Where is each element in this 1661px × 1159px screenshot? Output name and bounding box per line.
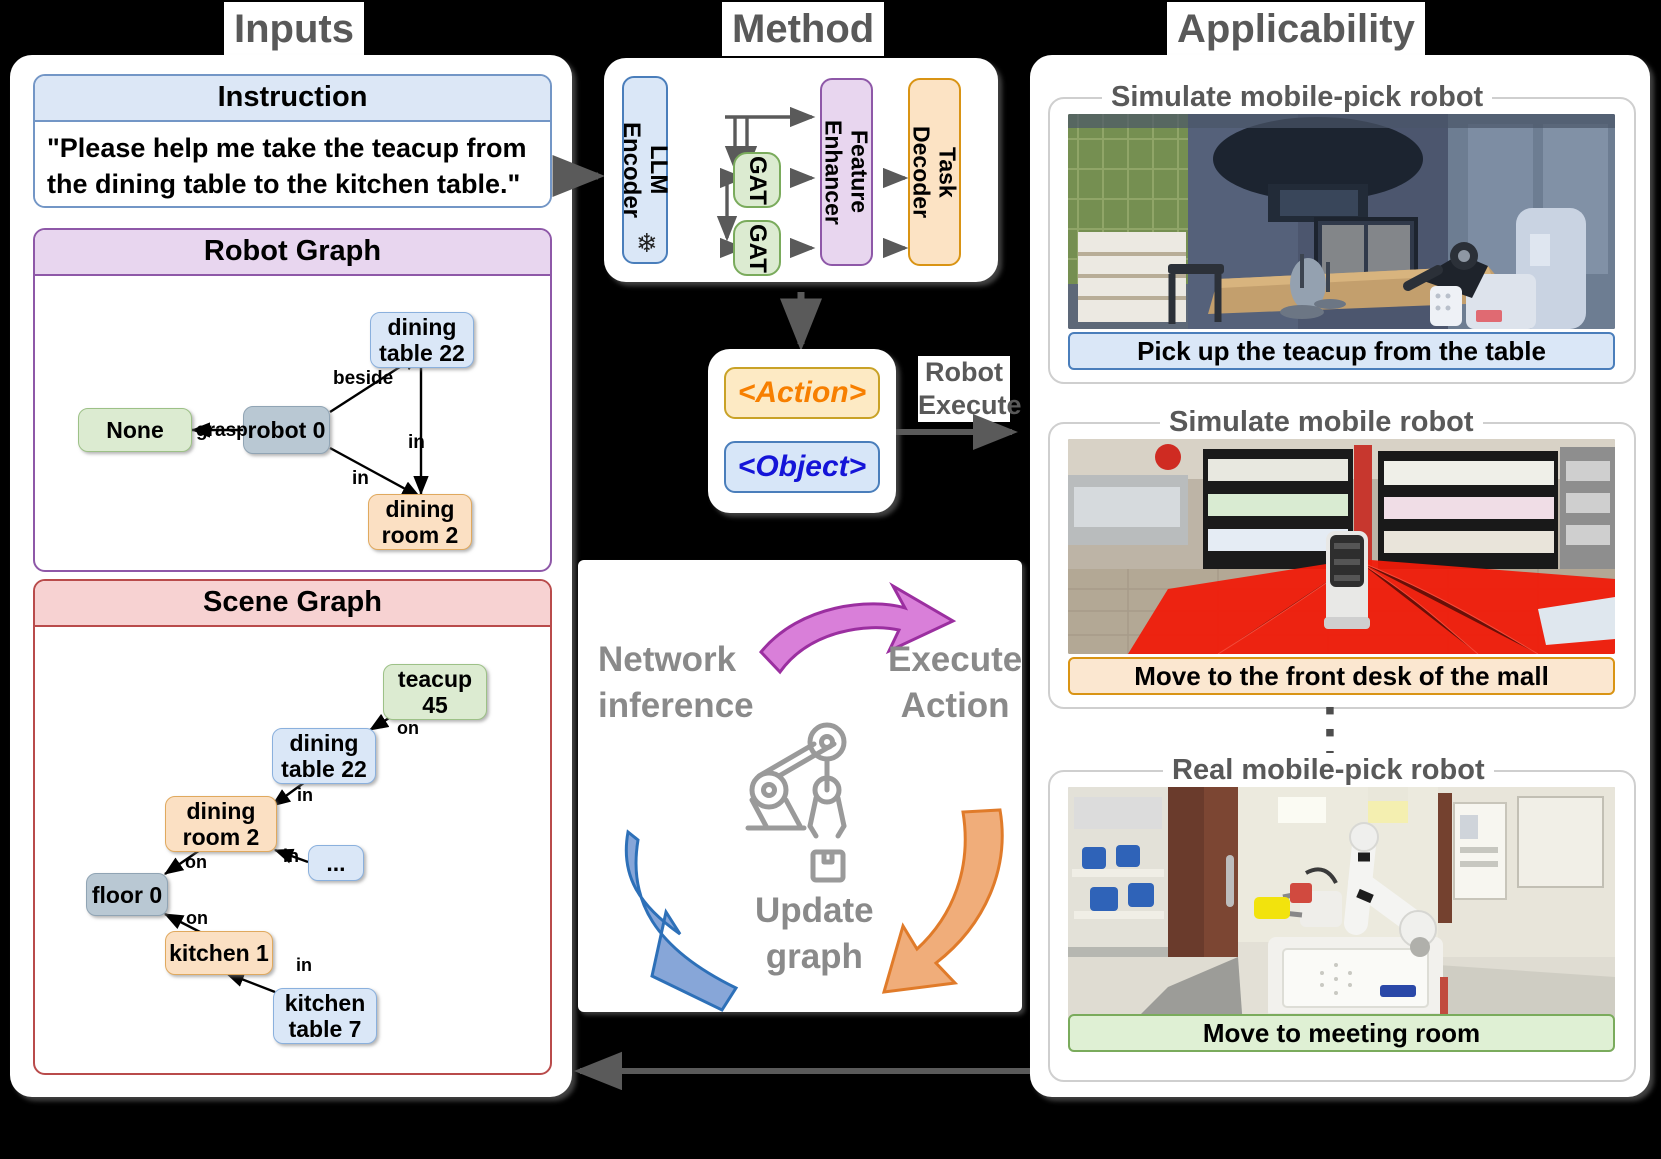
- applicability-label-2: Simulate mobile robot: [1160, 405, 1483, 439]
- real-corridor-scene: [1068, 787, 1615, 1027]
- applicability-photo-2: [1068, 439, 1615, 654]
- applicability-label-3: Real mobile-pick robot: [1163, 753, 1494, 787]
- applicability-photo-3: [1068, 787, 1615, 1027]
- sim-dining-room-scene: [1068, 114, 1615, 329]
- sim-mall-scene: [1068, 439, 1615, 654]
- applicability-caption-1: Pick up the teacup from the table: [1068, 332, 1615, 370]
- applicability-caption-3: Move to meeting room: [1068, 1014, 1615, 1052]
- applicability-label-1: Simulate mobile-pick robot: [1102, 80, 1492, 114]
- applicability-caption-2: Move to the front desk of the mall: [1068, 657, 1615, 695]
- applicability-photo-1: [1068, 114, 1615, 329]
